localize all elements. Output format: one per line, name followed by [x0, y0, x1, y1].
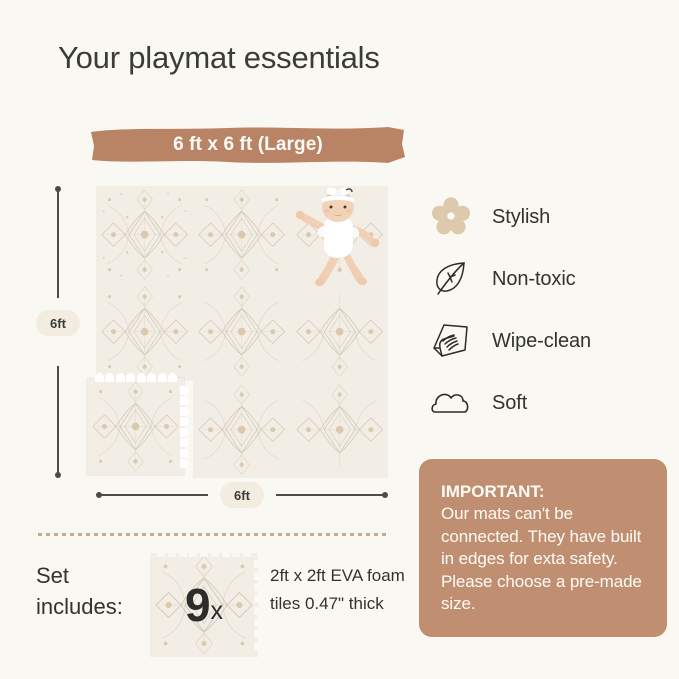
feature-item-stylish: Stylish [428, 186, 668, 248]
feature-label: Wipe-clean [492, 330, 591, 353]
feature-item-soft: Soft [428, 372, 668, 434]
detached-interlocking-tile [87, 378, 184, 475]
mat-tile [96, 283, 193, 380]
tile-pattern [193, 186, 290, 283]
mat-tile [193, 283, 290, 380]
section-divider [38, 533, 390, 536]
flower-icon [428, 194, 474, 240]
playmat-diagram [96, 186, 388, 478]
set-includes-tile: 9 x [150, 553, 258, 657]
mat-tile [96, 186, 193, 283]
cloud-icon [428, 380, 474, 426]
tile-pattern [193, 381, 290, 478]
dimension-segment-right [276, 494, 384, 496]
tile-count-overlay: 9 x [150, 553, 258, 657]
size-banner: 6 ft x 6 ft (Large) [88, 124, 408, 166]
mat-tile [291, 381, 388, 478]
size-banner-label: 6 ft x 6 ft (Large) [88, 124, 408, 166]
features-list: Stylish Non-toxic [428, 186, 668, 434]
infographic-page: Your playmat essentials 6 ft x 6 ft (Lar… [0, 0, 679, 679]
dimension-segment-upper [57, 190, 59, 298]
tile-pattern [193, 283, 290, 380]
height-label-pill: 6ft [36, 310, 80, 336]
detached-tile-art [87, 378, 184, 475]
set-includes-description: 2ft x 2ft EVA foam tiles 0.47" thick [270, 562, 410, 617]
set-includes-label: Set includes: [36, 560, 156, 622]
baby-onesie [324, 216, 353, 258]
tile-pattern [291, 283, 388, 380]
dimension-dot-bottom [55, 472, 61, 478]
dimension-segment-left [100, 494, 208, 496]
tile-pattern [87, 378, 184, 475]
tile-pattern [96, 283, 193, 380]
feature-item-non-toxic: Non-toxic [428, 248, 668, 310]
leaf-icon [428, 256, 474, 302]
dimension-segment-lower [57, 366, 59, 474]
feature-label: Non-toxic [492, 268, 576, 291]
mat-tile [193, 186, 290, 283]
mat-tile [193, 381, 290, 478]
baby-illustration [290, 186, 386, 290]
important-notice-box: IMPORTANT: Our mats can't be connected. … [419, 459, 667, 637]
width-label-pill: 6ft [220, 482, 264, 508]
feature-item-wipe-clean: Wipe-clean [428, 310, 668, 372]
tile-count-multiplier: x [211, 599, 224, 624]
tile-pattern [96, 186, 193, 283]
feature-label: Soft [492, 392, 527, 415]
tile-pattern [291, 381, 388, 478]
page-title: Your playmat essentials [58, 40, 380, 76]
puzzle-tabs-right [180, 386, 189, 468]
wipe-cloth-icon [428, 318, 474, 364]
important-title: IMPORTANT: [441, 481, 647, 503]
dimension-dot-right [382, 492, 388, 498]
puzzle-tabs-top [95, 373, 177, 382]
feature-label: Stylish [492, 206, 550, 229]
important-body: Our mats can't be connected. They have b… [441, 503, 647, 615]
mat-tile [291, 283, 388, 380]
tile-count-number: 9 [185, 582, 211, 628]
